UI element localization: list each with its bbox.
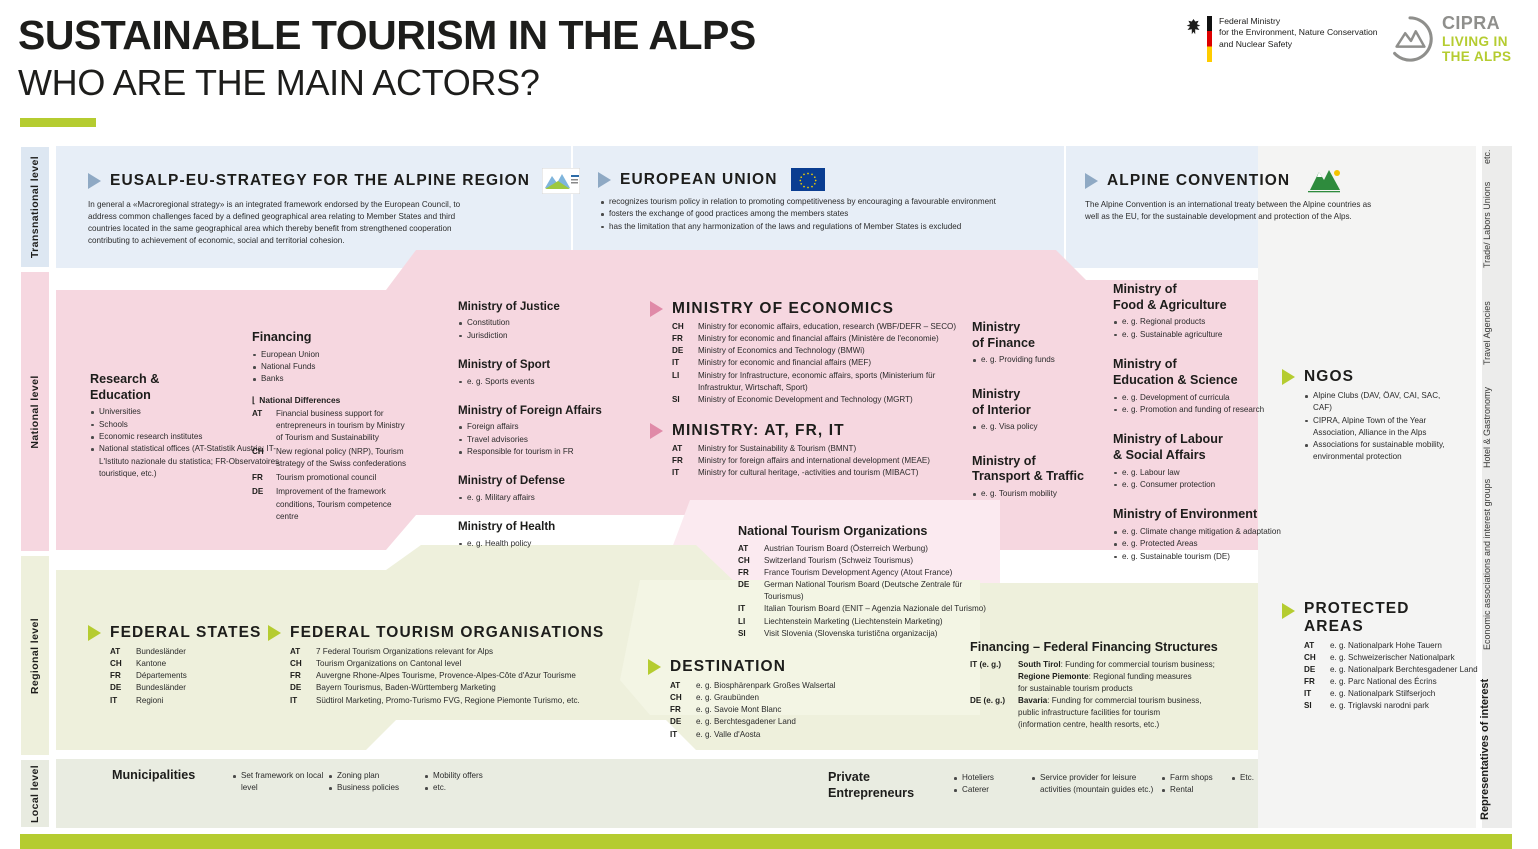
ministry-bullet: Responsible for tourism in FR <box>458 446 633 458</box>
destination-rows: ATe. g. Biosphärenpark Großes Walsertal … <box>670 680 898 741</box>
country-code: AT <box>1304 640 1330 652</box>
protected-area-row: SIe. g. Triglavski narodni park <box>1304 700 1482 712</box>
ministry-list: e. g. Tourism mobility <box>972 488 1097 500</box>
ministry-of-economics-title: MINISTRY OF ECONOMICS <box>672 300 894 318</box>
eu-header: EUROPEAN UNION <box>598 168 1048 191</box>
ministry-title-line2: of Finance <box>972 336 1097 352</box>
ministry-bullet: e. g. Labour law <box>1113 467 1288 479</box>
country-text: Switzerland Tourism (Schweiz Tourismus) <box>764 555 998 567</box>
ministry-of-economics-header: MINISTRY OF ECONOMICS <box>650 300 960 318</box>
cipra-name: CIPRA <box>1442 14 1511 34</box>
ngos-title: NGOS <box>1304 368 1354 386</box>
country-code: AT <box>252 408 276 444</box>
country-code: AT <box>110 646 136 658</box>
ministry-bullet: e. g. Tourism mobility <box>972 488 1097 500</box>
ministry-at-fr-it-header: MINISTRY: AT, FR, IT <box>650 422 960 440</box>
financing-text-1: : Funding for commercial tourism busines… <box>1047 696 1201 705</box>
ministry-title-line1: Ministry of <box>1113 282 1288 298</box>
cipra-mountain-circle-icon <box>1386 15 1434 63</box>
atfrit-row: FRMinistry for foreign affairs and inter… <box>672 455 960 467</box>
eu-flag-icon <box>791 168 825 191</box>
financing-text-3: for sustainable tourism products <box>1018 684 1133 693</box>
country-text: Financial business support for entrepren… <box>276 408 412 444</box>
country-text: Tourism promotional council <box>276 472 412 484</box>
country-code: CH <box>1304 652 1330 664</box>
country-text: Austrian Tourism Board (Österreich Werbu… <box>764 543 998 555</box>
fto-row: FRAuvergne Rhone-Alpes Tourisme, Provenc… <box>290 670 598 682</box>
ministry-list: e. g. Labour law e. g. Consumer protecti… <box>1113 467 1288 492</box>
country-code: LI <box>672 370 698 394</box>
level-label-local: Local level <box>20 759 50 828</box>
rail-item-4: etc. <box>1482 149 1492 164</box>
country-code: IT <box>290 695 316 707</box>
eu-bullet-2: has the limitation that any harmonizatio… <box>600 221 1048 233</box>
federal-states-title: FEDERAL STATES <box>110 624 261 642</box>
infographic-canvas: Transnational level National level Regio… <box>0 140 1538 849</box>
ministry-title: Ministry of Defense <box>458 474 633 488</box>
national-financing-list: European Union National Funds Banks <box>252 349 412 386</box>
bottom-accent-bar <box>20 834 1512 849</box>
country-text: Ministry for economic and financial affa… <box>698 357 960 369</box>
ministry-line-2: for the Environment, Nature Conservation <box>1219 27 1378 38</box>
country-text: Bundesländer <box>136 682 268 694</box>
ministry-of-economics-block: MINISTRY OF ECONOMICS CHMinistry for eco… <box>650 300 960 406</box>
country-code: DE <box>252 486 276 522</box>
country-text: Visit Slovenia (Slovenska turistična org… <box>764 628 998 640</box>
private-bullet: Farm shops <box>1161 772 1231 784</box>
ministry-block: Ministry of Education & Science e. g. De… <box>1113 357 1288 416</box>
federal-tourism-orgs-title: FEDERAL TOURISM ORGANISATIONS <box>290 624 604 642</box>
nto-row: SIVisit Slovenia (Slovenska turistična o… <box>738 628 998 640</box>
country-code: SI <box>672 394 698 406</box>
ministry-list: e. g. Military affairs <box>458 492 633 504</box>
country-text: Italian Tourism Board (ENIT – Agenzia Na… <box>764 603 998 615</box>
country-text: Ministry for economic affairs, education… <box>698 321 960 333</box>
private-bullet: Caterer <box>953 784 1031 796</box>
country-code: AT <box>672 443 698 455</box>
destination-row: CHe. g. Graubünden <box>670 692 898 704</box>
protected-areas-title-line1: PROTECTED <box>1304 600 1410 618</box>
ministry-block: Ministry of Finance e. g. Providing fund… <box>972 320 1097 367</box>
municipalities-col-1: Set framework on local level <box>232 770 328 795</box>
municipalities-bullet: Business policies <box>328 782 424 794</box>
nto-row: ATAustrian Tourism Board (Österreich Wer… <box>738 543 998 555</box>
country-text: e. g. Savoie Mont Blanc <box>696 704 898 716</box>
country-code: FR <box>670 704 696 716</box>
country-code: FR <box>290 670 316 682</box>
country-text: e. g. Nationalpark Hohe Tauern <box>1330 640 1482 652</box>
country-code: IT <box>1304 688 1330 700</box>
country-text: Liechtenstein Marketing (Liechtenstein M… <box>764 616 998 628</box>
country-code: IT <box>110 695 136 707</box>
destination-row: ITe. g. Valle d'Aosta <box>670 729 898 741</box>
ministry-title: Ministry of Transport & Traffic <box>972 454 1112 485</box>
ministry-bullet: Foreign affairs <box>458 421 633 433</box>
ministry-block: Ministry of Foreign Affairs Foreign affa… <box>458 404 633 458</box>
country-text: e. g. Schweizerischer Nationalpark <box>1330 652 1482 664</box>
country-text: Départements <box>136 670 268 682</box>
federal-ministry-logo: Federal Ministry for the Environment, Na… <box>1185 16 1378 62</box>
ngos-bullet-2: Associations for sustainable mobility, e… <box>1304 439 1452 464</box>
triangle-bullet-icon <box>1282 603 1295 619</box>
country-code: IT <box>672 357 698 369</box>
national-differences-list: AT Financial business support for entrep… <box>252 408 412 523</box>
protected-areas-rows: ATe. g. Nationalpark Hohe Tauern CHe. g.… <box>1304 640 1482 713</box>
ministry-at-fr-it-title: MINISTRY: AT, FR, IT <box>672 422 845 440</box>
municipalities-bullet: Mobility offers <box>424 770 520 782</box>
nto-row: FRFrance Tourism Development Agency (Ato… <box>738 567 998 579</box>
german-eagle-icon <box>1185 18 1202 37</box>
ministry-bullet: e. g. Development of curricula <box>1113 392 1288 404</box>
country-text: German National Tourism Board (Deutsche … <box>764 579 998 603</box>
nto-rows: ATAustrian Tourism Board (Österreich Wer… <box>738 543 998 640</box>
eusalp-header: EUSALP-EU-STRATEGY FOR THE ALPINE REGION <box>88 168 508 194</box>
country-text: e. g. Biosphärenpark Großes Walsertal <box>696 680 898 692</box>
rail-item-1: Hotel & Gastronomy <box>1482 387 1492 468</box>
cipra-tagline-2: THE ALPS <box>1442 49 1511 65</box>
ministry-block: Ministry of Justice Constitution Jurisdi… <box>458 300 633 342</box>
ministry-list: Foreign affairs Travel advisories Respon… <box>458 421 633 458</box>
triangle-bullet-icon <box>1085 173 1098 189</box>
country-text: e. g. Valle d'Aosta <box>696 729 898 741</box>
country-code: CH <box>252 446 276 470</box>
ministry-line-1: Federal Ministry <box>1219 16 1378 27</box>
financing-bullet-2: Banks <box>252 373 412 385</box>
country-code: AT <box>670 680 696 692</box>
country-code: DE <box>1304 664 1330 676</box>
ministry-bullet: e. g. Climate change mitigation & adapta… <box>1113 526 1288 538</box>
page-subtitle: WHO ARE THE MAIN ACTORS? <box>18 64 540 102</box>
triangle-bullet-icon <box>648 659 661 675</box>
ministry-list: e. g. Health policy <box>458 538 633 550</box>
financing-bold-2: Regione Piemonte <box>1018 672 1089 681</box>
financing-text-2: : Regional funding measures <box>1089 672 1192 681</box>
regional-financing-rows: IT (e. g.) South Tirol: Funding for comm… <box>970 659 1230 732</box>
ministry-title-line1: Ministry of <box>1113 357 1288 373</box>
nto-row: CHSwitzerland Tourism (Schweiz Tourismus… <box>738 555 998 567</box>
country-text: Ministry of Economics and Technology (BM… <box>698 345 960 357</box>
country-text: Bayern Tourismus, Baden-Württemberg Mark… <box>316 682 598 694</box>
representatives-of-interest-rail: Representatives of interest Economic ass… <box>1482 146 1512 828</box>
german-flag-bar <box>1207 16 1212 62</box>
right-column-background <box>1258 146 1476 828</box>
ministry-bullet: Jurisdiction <box>458 330 633 342</box>
municipalities-col-2: Zoning plan Business policies <box>328 770 424 795</box>
economics-row: ITMinistry for economic and financial af… <box>672 357 960 369</box>
page-header: SUSTAINABLE TOURISM IN THE ALPS WHO ARE … <box>0 0 1538 140</box>
country-code: SI <box>738 628 764 640</box>
country-text: e. g. Triglavski narodni park <box>1330 700 1482 712</box>
fto-row: CHTourism Organizations on Cantonal leve… <box>290 658 598 670</box>
ministry-bullet: e. g. Sports events <box>458 376 633 388</box>
country-text: Improvement of the framework conditions,… <box>276 486 412 522</box>
ministry-list: e. g. Regional products e. g. Sustainabl… <box>1113 316 1288 341</box>
triangle-bullet-icon <box>88 625 101 641</box>
eu-bullet-1: fosters the exchange of good practices a… <box>600 208 1048 220</box>
private-bullet: Service provider for leisure activities … <box>1031 772 1161 797</box>
regional-financing-row: IT (e. g.) South Tirol: Funding for comm… <box>970 659 1230 695</box>
alpine-convention-title: ALPINE CONVENTION <box>1107 172 1290 190</box>
ministry-title-line1: Ministry of Environment <box>1113 507 1288 523</box>
private-entrepreneurs-title: Private Entrepreneurs <box>828 770 953 801</box>
ministry-list: e. g. Providing funds <box>972 354 1097 366</box>
nto-row: ITItalian Tourism Board (ENIT – Agenzia … <box>738 603 998 615</box>
country-text: e. g. Nationalpark Berchtesgadener Land <box>1330 664 1482 676</box>
ministry-title-line2: & Social Affairs <box>1113 448 1288 464</box>
ministry-of-economics-rows: CHMinistry for economic affairs, educati… <box>672 321 960 406</box>
country-code: DE <box>670 716 696 728</box>
cipra-tagline-1: LIVING IN <box>1442 34 1511 50</box>
ministry-block: Ministry of Defense e. g. Military affai… <box>458 474 633 504</box>
ministry-list: e. g. Climate change mitigation & adapta… <box>1113 526 1288 563</box>
national-differences-label: ⌊National Differences <box>252 395 412 405</box>
country-code: CH <box>672 321 698 333</box>
country-text: South Tirol: Funding for commercial tour… <box>1018 659 1230 695</box>
country-text: Ministry for Sustainability & Tourism (B… <box>698 443 960 455</box>
ministry-list: e. g. Visa policy <box>972 421 1097 433</box>
country-text: Ministry for foreign affairs and interna… <box>698 455 960 467</box>
alpine-convention-logo-icon <box>1302 168 1346 194</box>
ministry-title: Ministry of Foreign Affairs <box>458 404 633 418</box>
destination-row: ATe. g. Biosphärenpark Großes Walsertal <box>670 680 898 692</box>
triangle-bullet-icon <box>268 625 281 641</box>
country-code: SI <box>1304 700 1330 712</box>
level-label-regional: Regional level <box>20 555 50 756</box>
triangle-bullet-icon <box>1282 369 1295 385</box>
country-text: Tourism Organizations on Cantonal level <box>316 658 598 670</box>
destination-block: DESTINATION ATe. g. Biosphärenpark Große… <box>648 658 898 741</box>
country-code: FR <box>672 455 698 467</box>
nto-title: National Tourism Organizations <box>738 524 998 540</box>
country-code: FR <box>252 472 276 484</box>
eu-bullet-0: recognizes tourism policy in relation to… <box>600 196 1048 208</box>
ministries-mid-column: Ministry of Finance e. g. Providing fund… <box>972 320 1097 500</box>
country-code: CH <box>110 658 136 670</box>
ngos-list: Alpine Clubs (DAV, ÖAV, CAI, SAC, CAF) C… <box>1304 390 1452 464</box>
country-code: FR <box>738 567 764 579</box>
national-diff-row: DE Improvement of the framework conditio… <box>252 486 412 522</box>
page-title: SUSTAINABLE TOURISM IN THE ALPS <box>18 14 756 57</box>
private-col-3: Farm shops Rental <box>1161 772 1231 797</box>
federal-tourism-orgs-header: FEDERAL TOURISM ORGANISATIONS <box>268 624 598 642</box>
national-financing-title: Financing <box>252 330 412 346</box>
regional-financing-block: Financing – Federal Financing Structures… <box>970 640 1230 732</box>
european-union-block: EUROPEAN UNION recognizes tourism policy… <box>598 168 1048 233</box>
protected-area-row: ATe. g. Nationalpark Hohe Tauern <box>1304 640 1482 652</box>
ministry-title: Ministry of Health <box>458 520 633 534</box>
private-col-2: Service provider for leisure activities … <box>1031 772 1161 797</box>
country-text: e. g. Nationalpark Stilfserjoch <box>1330 688 1482 700</box>
country-text: Kantone <box>136 658 268 670</box>
municipalities-title: Municipalities <box>112 768 232 784</box>
ministry-bullet: e. g. Health policy <box>458 538 633 550</box>
ministry-line-3: and Nuclear Safety <box>1219 39 1378 50</box>
ministry-list: e. g. Development of curricula e. g. Pro… <box>1113 392 1288 417</box>
country-code: FR <box>110 670 136 682</box>
country-code: IT (e. g.) <box>970 659 1018 695</box>
private-bullet: Etc. <box>1231 772 1277 784</box>
ministry-bullet: e. g. Protected Areas <box>1113 538 1288 550</box>
ministries-right-column: Ministry of Food & Agriculture e. g. Reg… <box>1113 282 1288 563</box>
ministry-title-line1: Ministry <box>972 387 1097 403</box>
title-accent-rule <box>20 118 96 127</box>
country-text: Südtirol Marketing, Promo-Turismo FVG, R… <box>316 695 598 707</box>
economics-row: CHMinistry for economic affairs, educati… <box>672 321 960 333</box>
ministry-title-line1: Ministry <box>972 320 1097 336</box>
ministry-at-fr-it-block: MINISTRY: AT, FR, IT ATMinistry for Sust… <box>650 422 960 479</box>
ministry-bullet: e. g. Regional products <box>1113 316 1288 328</box>
regional-financing-title: Financing – Federal Financing Structures <box>970 640 1230 656</box>
private-bullet: Hoteliers <box>953 772 1031 784</box>
destination-header: DESTINATION <box>648 658 898 676</box>
municipalities-bullet: Zoning plan <box>328 770 424 782</box>
financing-text-3: (information centre, health resorts, etc… <box>1018 720 1159 729</box>
ministry-bullet: e. g. Consumer protection <box>1113 479 1288 491</box>
atfrit-row: ATMinistry for Sustainability & Tourism … <box>672 443 960 455</box>
country-code: DE (e. g.) <box>970 695 1018 731</box>
ministry-block: Ministry of Health e. g. Health policy <box>458 520 633 550</box>
rail-item-0: Economic associations and interest group… <box>1482 479 1492 650</box>
country-code: AT <box>738 543 764 555</box>
destination-title: DESTINATION <box>670 658 786 676</box>
eu-title: EUROPEAN UNION <box>620 171 778 189</box>
protected-areas-title: PROTECTED AREAS <box>1304 600 1410 636</box>
municipalities-col-3: Mobility offers etc. <box>424 770 520 795</box>
private-col-4: Etc. <box>1231 772 1277 784</box>
ministry-block: Ministry of Interior e. g. Visa policy <box>972 387 1097 434</box>
eusalp-body: In general a «Macroregional strategy» is… <box>88 199 488 248</box>
country-code: DE <box>110 682 136 694</box>
protected-area-row: FRe. g. Parc National des Écrins <box>1304 676 1482 688</box>
fto-row: ITSüdtirol Marketing, Promo-Turismo FVG,… <box>290 695 598 707</box>
private-col-1: Hoteliers Caterer <box>953 772 1031 797</box>
level-label-transnational-text: Transnational level <box>29 156 41 258</box>
country-code: LI <box>738 616 764 628</box>
ngos-block: NGOS Alpine Clubs (DAV, ÖAV, CAI, SAC, C… <box>1282 368 1452 464</box>
national-diff-row: CH New regional policy (NRP), Tourism st… <box>252 446 412 470</box>
federal-tourism-orgs-rows: AT7 Federal Tourism Organizations releva… <box>290 646 598 707</box>
ministry-bullet: e. g. Promotion and funding of research <box>1113 404 1288 416</box>
triangle-bullet-icon <box>88 173 101 189</box>
financing-text-2: public infrastructure facilities for tou… <box>1018 708 1160 717</box>
nto-row: LILiechtenstein Marketing (Liechtenstein… <box>738 616 998 628</box>
ministry-list: e. g. Sports events <box>458 376 633 388</box>
protected-areas-block: PROTECTED AREAS ATe. g. Nationalpark Hoh… <box>1282 600 1482 712</box>
destination-row: FRe. g. Savoie Mont Blanc <box>670 704 898 716</box>
ministry-title: Ministry of Food & Agriculture <box>1113 282 1288 313</box>
protected-area-row: DEe. g. Nationalpark Berchtesgadener Lan… <box>1304 664 1482 676</box>
ministry-title-line2: Education & Science <box>1113 373 1288 389</box>
federal-states-block: FEDERAL STATES ATBundesländer CHKantone … <box>88 624 268 707</box>
financing-bullet-1: National Funds <box>252 361 412 373</box>
financing-bold-1: South Tirol <box>1018 660 1061 669</box>
ministry-bullet: e. g. Sustainable agriculture <box>1113 329 1288 341</box>
country-code: FR <box>672 333 698 345</box>
ngos-bullet-1: CIPRA, Alpine Town of the Year Associati… <box>1304 415 1452 440</box>
federal-state-row: DEBundesländer <box>110 682 268 694</box>
triangle-bullet-icon <box>650 301 663 317</box>
ministries-left-column: Ministry of Justice Constitution Jurisdi… <box>458 300 633 550</box>
alpine-convention-body: The Alpine Convention is an internationa… <box>1085 199 1375 223</box>
protected-area-row: ITe. g. Nationalpark Stilfserjoch <box>1304 688 1482 700</box>
protected-area-row: CHe. g. Schweizerischer Nationalpark <box>1304 652 1482 664</box>
ministry-at-fr-it-rows: ATMinistry for Sustainability & Tourism … <box>672 443 960 479</box>
ministry-title-line2: Food & Agriculture <box>1113 298 1288 314</box>
level-label-national-text: National level <box>29 375 41 448</box>
eu-bullet-list: recognizes tourism policy in relation to… <box>600 196 1048 233</box>
economics-row: DEMinistry of Economics and Technology (… <box>672 345 960 357</box>
eusalp-title: EUSALP-EU-STRATEGY FOR THE ALPINE REGION <box>110 172 530 190</box>
ministry-title: Ministry of Environment <box>1113 507 1288 523</box>
country-code: FR <box>1304 676 1330 688</box>
private-entrepreneurs-block: Private Entrepreneurs Hoteliers Caterer … <box>828 772 1268 804</box>
ngos-header: NGOS <box>1282 368 1452 386</box>
alpine-convention-block: ALPINE CONVENTION The Alpine Convention … <box>1085 168 1415 223</box>
nto-row: DEGerman National Tourism Board (Deutsch… <box>738 579 998 603</box>
ministry-title: Ministry of Sport <box>458 358 633 372</box>
ministry-block: Ministry of Environment e. g. Climate ch… <box>1113 507 1288 563</box>
rail-item-3: Trade/ Labors Unions <box>1482 182 1492 268</box>
ministry-title-line2: Transport & Traffic <box>972 469 1112 485</box>
financing-bold-1: Bavaria <box>1018 696 1047 705</box>
country-text: Bundesländer <box>136 646 268 658</box>
country-code: CH <box>670 692 696 704</box>
triangle-bullet-icon <box>598 172 611 188</box>
eusalp-logo-icon <box>542 168 580 194</box>
country-text: Ministry for cultural heritage, -activit… <box>698 467 960 479</box>
ministry-title: Ministry of Labour & Social Affairs <box>1113 432 1288 463</box>
protected-areas-title-line2: AREAS <box>1304 618 1410 636</box>
economics-row: LIMinistry for Infrastructure, economic … <box>672 370 960 394</box>
country-text: Ministry for economic and financial affa… <box>698 333 960 345</box>
country-code: IT <box>738 603 764 615</box>
ministry-bullet: e. g. Providing funds <box>972 354 1097 366</box>
federal-state-row: FRDépartements <box>110 670 268 682</box>
economics-row: SIMinistry of Economic Development and T… <box>672 394 960 406</box>
municipalities-block: Municipalities Set framework on local le… <box>112 770 572 795</box>
national-tourism-organizations-block: National Tourism Organizations ATAustria… <box>738 524 998 640</box>
level-label-transnational: Transnational level <box>20 146 50 268</box>
ngos-bullet-0: Alpine Clubs (DAV, ÖAV, CAI, SAC, CAF) <box>1304 390 1452 415</box>
rail-item-2: Travel Agencies <box>1482 301 1492 365</box>
ministry-title-line1: Ministry of <box>972 454 1112 470</box>
federal-state-row: CHKantone <box>110 658 268 670</box>
country-code: DE <box>738 579 764 603</box>
federal-state-row: ATBundesländer <box>110 646 268 658</box>
country-code: IT <box>670 729 696 741</box>
cipra-wordmark: CIPRA LIVING IN THE ALPS <box>1442 14 1511 65</box>
country-text: Auvergne Rhone-Alpes Tourisme, Provence-… <box>316 670 598 682</box>
country-code: CH <box>738 555 764 567</box>
level-label-local-text: Local level <box>29 764 41 822</box>
destination-row: DEe. g. Berchtesgadener Land <box>670 716 898 728</box>
protected-areas-header: PROTECTED AREAS <box>1282 600 1482 636</box>
ministry-title: Ministry of Finance <box>972 320 1097 351</box>
fto-row: DEBayern Tourismus, Baden-Württemberg Ma… <box>290 682 598 694</box>
country-text: Ministry of Economic Development and Tec… <box>698 394 960 406</box>
ministry-title: Ministry of Justice <box>458 300 633 314</box>
triangle-bullet-icon <box>650 423 663 439</box>
country-text: Bavaria: Funding for commercial tourism … <box>1018 695 1230 731</box>
federal-states-rows: ATBundesländer CHKantone FRDépartements … <box>110 646 268 707</box>
atfrit-row: ITMinistry for cultural heritage, -activ… <box>672 467 960 479</box>
federal-tourism-organisations-block: FEDERAL TOURISM ORGANISATIONS AT7 Federa… <box>268 624 598 707</box>
country-code: DE <box>290 682 316 694</box>
ministry-bullet: e. g. Sustainable tourism (DE) <box>1113 551 1288 563</box>
country-code: DE <box>672 345 698 357</box>
municipalities-bullet: etc. <box>424 782 520 794</box>
ministry-title-line1: Ministry of Labour <box>1113 432 1288 448</box>
